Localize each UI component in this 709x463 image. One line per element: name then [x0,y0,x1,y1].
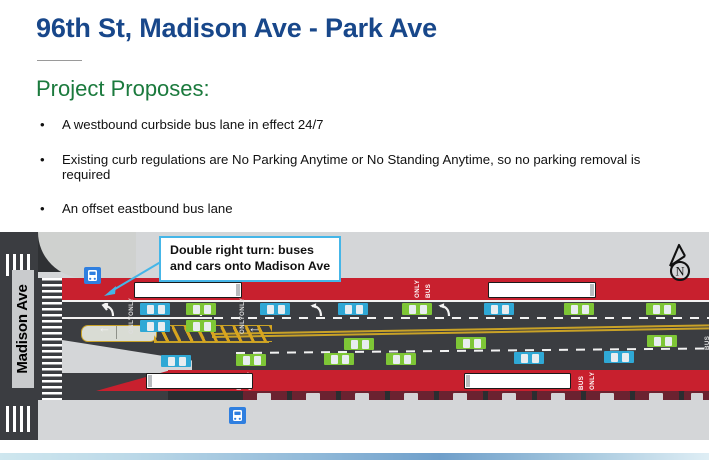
north-arrow-icon: N [663,242,695,284]
crosswalk-south-avenue [6,406,32,432]
turn-lane-marking-only: ONLY [128,298,135,316]
title-divider [37,60,82,61]
car-vehicle [260,303,290,315]
through-arrow-west: ← [98,321,111,334]
car-vehicle [514,352,544,364]
turn-lane-marking-only: ONLY [239,298,246,316]
sidewalk-south [36,400,709,440]
lane-marking-bus: BUS [704,336,709,350]
car-vehicle [564,303,594,315]
bus-stop-icon[interactable] [229,407,246,424]
callout-double-right-turn: Double right turn: buses and cars onto M… [159,236,341,282]
bus-vehicle [464,373,571,389]
car-vehicle [604,351,634,363]
parked-car [537,391,581,400]
list-item-text: Existing curb regulations are No Parking… [62,152,640,182]
car-vehicle [140,303,170,315]
car-vehicle [647,335,677,347]
car-vehicle [140,320,170,332]
bullet-marker: • [40,152,45,167]
car-vehicle [344,338,374,350]
callout-line-2: and cars onto Madison Ave [170,259,330,275]
parked-car [390,391,434,400]
parked-car [586,391,630,400]
left-turn-arrow-icon [308,303,324,317]
crosswalk-east-leg [42,278,62,400]
through-arrow-west: ← [248,321,261,334]
parked-car [243,391,287,400]
bus-bumper [148,375,152,387]
street-design-map: Madison Ave 96th St ONLY BUS ONLY BUS O [0,232,709,440]
lane-line-solid-2 [62,317,212,319]
corner-fill-southwest [38,398,136,440]
lane-marking-bus: BUS [425,284,432,298]
parked-car [635,391,679,400]
svg-text:N: N [675,265,684,279]
parked-car [292,391,336,400]
lane-marking-only: ONLY [589,372,596,390]
list-item: • A westbound curbside bus lane in effec… [36,117,666,132]
parked-car [488,391,532,400]
list-item: • Existing curb regulations are No Parki… [36,152,666,182]
parked-car [684,391,709,400]
callout-line-1: Double right turn: buses [170,243,330,259]
list-item: • An offset eastbound bus lane [36,201,666,216]
section-heading: Project Proposes: [36,76,210,102]
car-vehicle [338,303,368,315]
car-vehicle [324,353,354,365]
list-item-text: A westbound curbside bus lane in effect … [62,117,324,132]
bus-vehicle [488,282,596,298]
car-vehicle [484,303,514,315]
street-label-madison-ave: Madison Ave [12,270,34,388]
turn-lane-marking-only: ONLY [239,316,246,334]
bus-bumper [590,284,594,296]
lane-line-dashed-1 [214,317,709,319]
left-turn-arrow-icon [436,303,452,317]
car-vehicle [236,354,266,366]
bottom-accent-bar [0,453,709,460]
car-vehicle [402,303,432,315]
bus-bumper [236,284,240,296]
bus-pad-divider [116,326,117,339]
car-vehicle [456,337,486,349]
car-vehicle [186,320,216,332]
turn-lane-marking-only: ONLY [128,316,135,334]
parked-car [341,391,385,400]
car-vehicle [646,303,676,315]
bus-glyph-icon [229,407,246,424]
car-vehicle [161,355,191,367]
car-vehicle [386,353,416,365]
page-title: 96th St, Madison Ave - Park Ave [36,13,437,44]
lane-marking-only: ONLY [414,280,421,298]
bullet-marker: • [40,201,45,216]
bullet-marker: • [40,117,45,132]
callout-leader-line [98,256,168,298]
left-turn-arrow-icon [100,303,116,317]
lane-marking-bus: BUS [578,376,585,390]
list-item-text: An offset eastbound bus lane [62,201,233,216]
car-vehicle [186,303,216,315]
parked-car [439,391,483,400]
bus-bumper [466,375,470,387]
lane-line-solid-1 [62,300,709,302]
bus-vehicle [146,373,253,389]
bullet-list: • A westbound curbside bus lane in effec… [36,117,666,236]
